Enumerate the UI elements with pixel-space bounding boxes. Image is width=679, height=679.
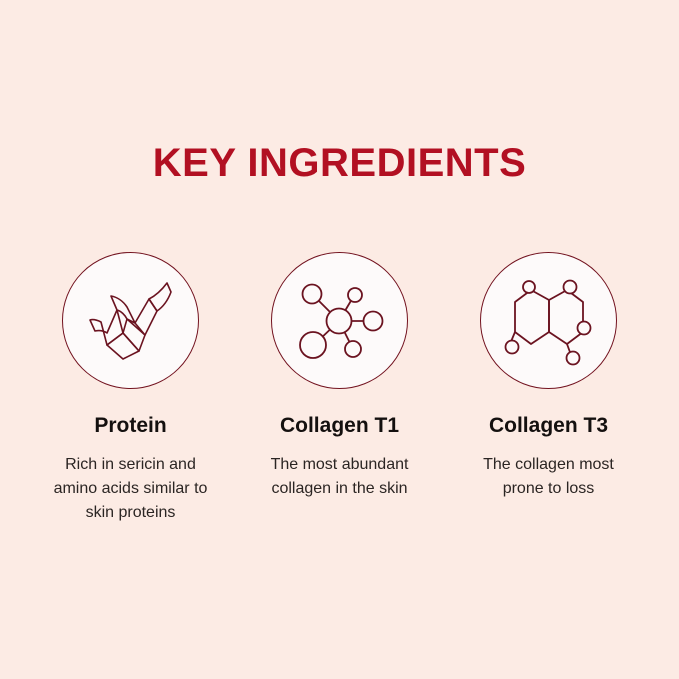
page-title: KEY INGREDIENTS	[0, 140, 679, 186]
card-title-protein: Protein	[94, 413, 166, 439]
card-title-collagen-t3: Collagen T3	[489, 413, 608, 439]
ingredient-card-collagen-t1: Collagen T1 The most abundant collagen i…	[235, 252, 444, 501]
ingredient-card-collagen-t3: Collagen T3 The collagen most prone to l…	[444, 252, 653, 501]
desc-line: The collagen most	[483, 453, 614, 477]
icon-circle-collagen-t3	[480, 252, 617, 389]
icon-circle-collagen-t1	[271, 252, 408, 389]
card-title-collagen-t1: Collagen T1	[280, 413, 399, 439]
desc-line: prone to loss	[483, 477, 614, 501]
ingredients-panel: KEY INGREDIENTS	[0, 0, 679, 679]
silk-ribbon-icon	[83, 273, 179, 369]
icon-circle-protein	[62, 252, 199, 389]
desc-line: The most abundant	[271, 453, 409, 477]
molecule-hexagon-icon	[504, 276, 594, 366]
desc-line: Rich in sericin and	[54, 453, 208, 477]
card-desc-collagen-t1: The most abundant collagen in the skin	[271, 453, 409, 501]
desc-line: collagen in the skin	[271, 477, 409, 501]
card-desc-protein: Rich in sericin and amino acids similar …	[54, 453, 208, 525]
card-desc-collagen-t3: The collagen most prone to loss	[483, 453, 614, 501]
molecule-node-icon	[294, 275, 386, 367]
desc-line: amino acids similar to	[54, 477, 208, 501]
ingredient-card-protein: Protein Rich in sericin and amino acids …	[26, 252, 235, 525]
ingredient-card-list: Protein Rich in sericin and amino acids …	[0, 252, 679, 525]
desc-line: skin proteins	[54, 501, 208, 525]
